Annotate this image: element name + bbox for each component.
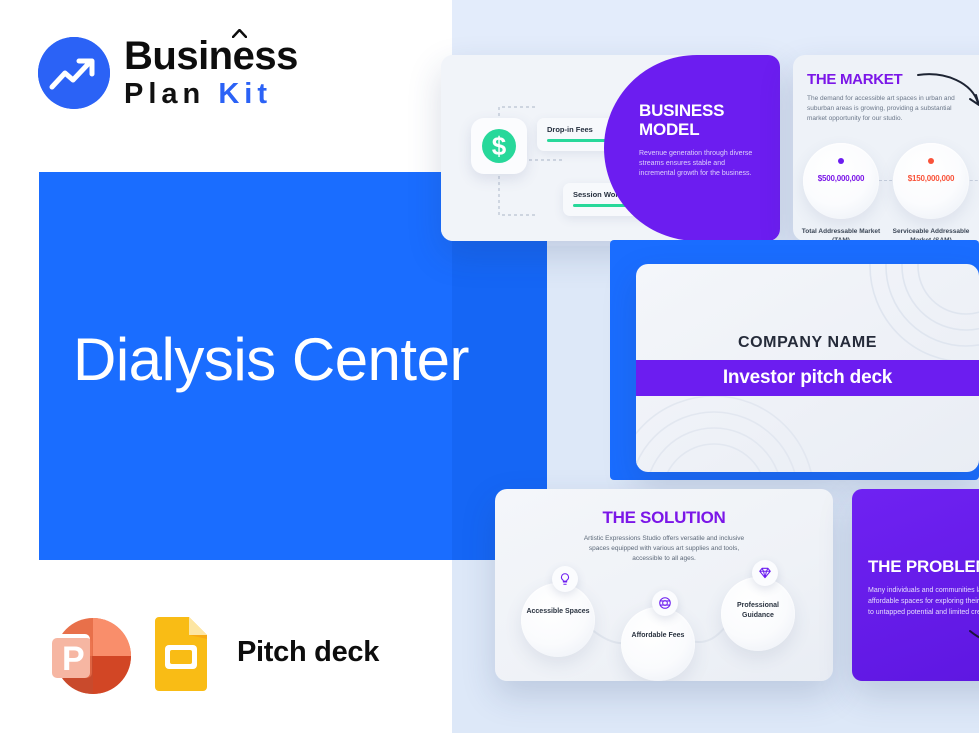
brand-logo: Business Plan Kit: [38, 36, 298, 109]
dollar-sign-icon: $: [482, 129, 516, 163]
growth-chart-arrow-icon: [38, 37, 110, 109]
solution-node-label: Accessible Spaces: [521, 607, 595, 617]
brand-logo-line2: Plan Kit: [124, 80, 298, 109]
slide-thumbnail-business-model[interactable]: $ Drop-in Fees Session Workshops Commiss…: [441, 55, 780, 241]
business-model-icon-tile: $: [471, 118, 527, 174]
solution-title: THE SOLUTION: [495, 508, 833, 528]
diamond-icon: [752, 560, 778, 586]
format-footer-label: Pitch deck: [237, 636, 379, 669]
problem-title: THE PROBLEM: [868, 557, 979, 577]
format-footer: P Pitch deck: [38, 608, 379, 696]
brand-logo-kit-text: Kit: [218, 78, 272, 110]
solution-node-label: Professional Guidance: [721, 601, 795, 620]
page-title: Dialysis Center: [73, 325, 469, 394]
brand-logo-line1: Business: [124, 36, 298, 76]
slide-thumbnail-market[interactable]: THE MARKET The demand for accessible art…: [793, 55, 979, 241]
investor-subtitle: Investor pitch deck: [723, 367, 892, 389]
market-metric-dot: [928, 158, 934, 164]
solution-node-bubble: [621, 607, 695, 681]
business-model-canvas: $ Drop-in Fees Session Workshops Commiss…: [441, 55, 780, 241]
slide-thumbnail-solution[interactable]: THE SOLUTION Artistic Expressions Studio…: [495, 489, 833, 681]
market-metric-bubble: $150,000,000: [893, 143, 969, 219]
market-metric-dot: [838, 158, 844, 164]
svg-text:P: P: [62, 640, 85, 678]
investor-subtitle-band: Investor pitch deck: [636, 360, 979, 396]
curved-arrow-icon: [916, 69, 979, 111]
market-metric-bubble: $500,000,000: [803, 143, 879, 219]
investor-company-name: COMPANY NAME: [636, 334, 979, 352]
brand-logo-text: Business Plan Kit: [124, 36, 298, 109]
swoosh-decoration-icon: [968, 627, 979, 657]
lightbulb-icon: [552, 566, 578, 592]
slide-thumbnail-problem[interactable]: THE PROBLEM Many individuals and communi…: [852, 489, 979, 681]
solution-node-label: Affordable Fees: [621, 631, 695, 641]
poster-stage: Business Plan Kit Dialysis Center: [0, 0, 979, 733]
powerpoint-icon: P: [38, 608, 133, 696]
market-title: THE MARKET: [807, 71, 902, 88]
circumflex-accent-icon: [232, 29, 247, 38]
market-metric-value: $150,000,000: [893, 174, 969, 183]
business-model-description: Revenue generation through diverse strea…: [639, 149, 761, 179]
solution-node-bubble: [521, 583, 595, 657]
brand-logo-line1-text: Business: [124, 34, 298, 78]
business-model-purple-panel: BUSINESS MODEL Revenue generation throug…: [604, 55, 780, 241]
business-model-title: BUSINESS MODEL: [639, 101, 780, 139]
problem-description: Many individuals and communities lack ac…: [868, 585, 979, 618]
solution-description: Artistic Expressions Studio offers versa…: [576, 534, 752, 564]
brand-logo-plan-text: Plan: [124, 78, 205, 110]
market-metric-caption: Total Addressable Market (TAM): [795, 227, 887, 241]
market-metric-caption: Serviceable Addressable Market (SAM): [885, 227, 977, 241]
google-slides-icon: [151, 613, 211, 691]
market-metric-value: $500,000,000: [803, 174, 879, 183]
slide-thumbnail-investor-pitch-deck[interactable]: COMPANY NAME Investor pitch deck: [636, 264, 979, 472]
target-icon: [652, 590, 678, 616]
